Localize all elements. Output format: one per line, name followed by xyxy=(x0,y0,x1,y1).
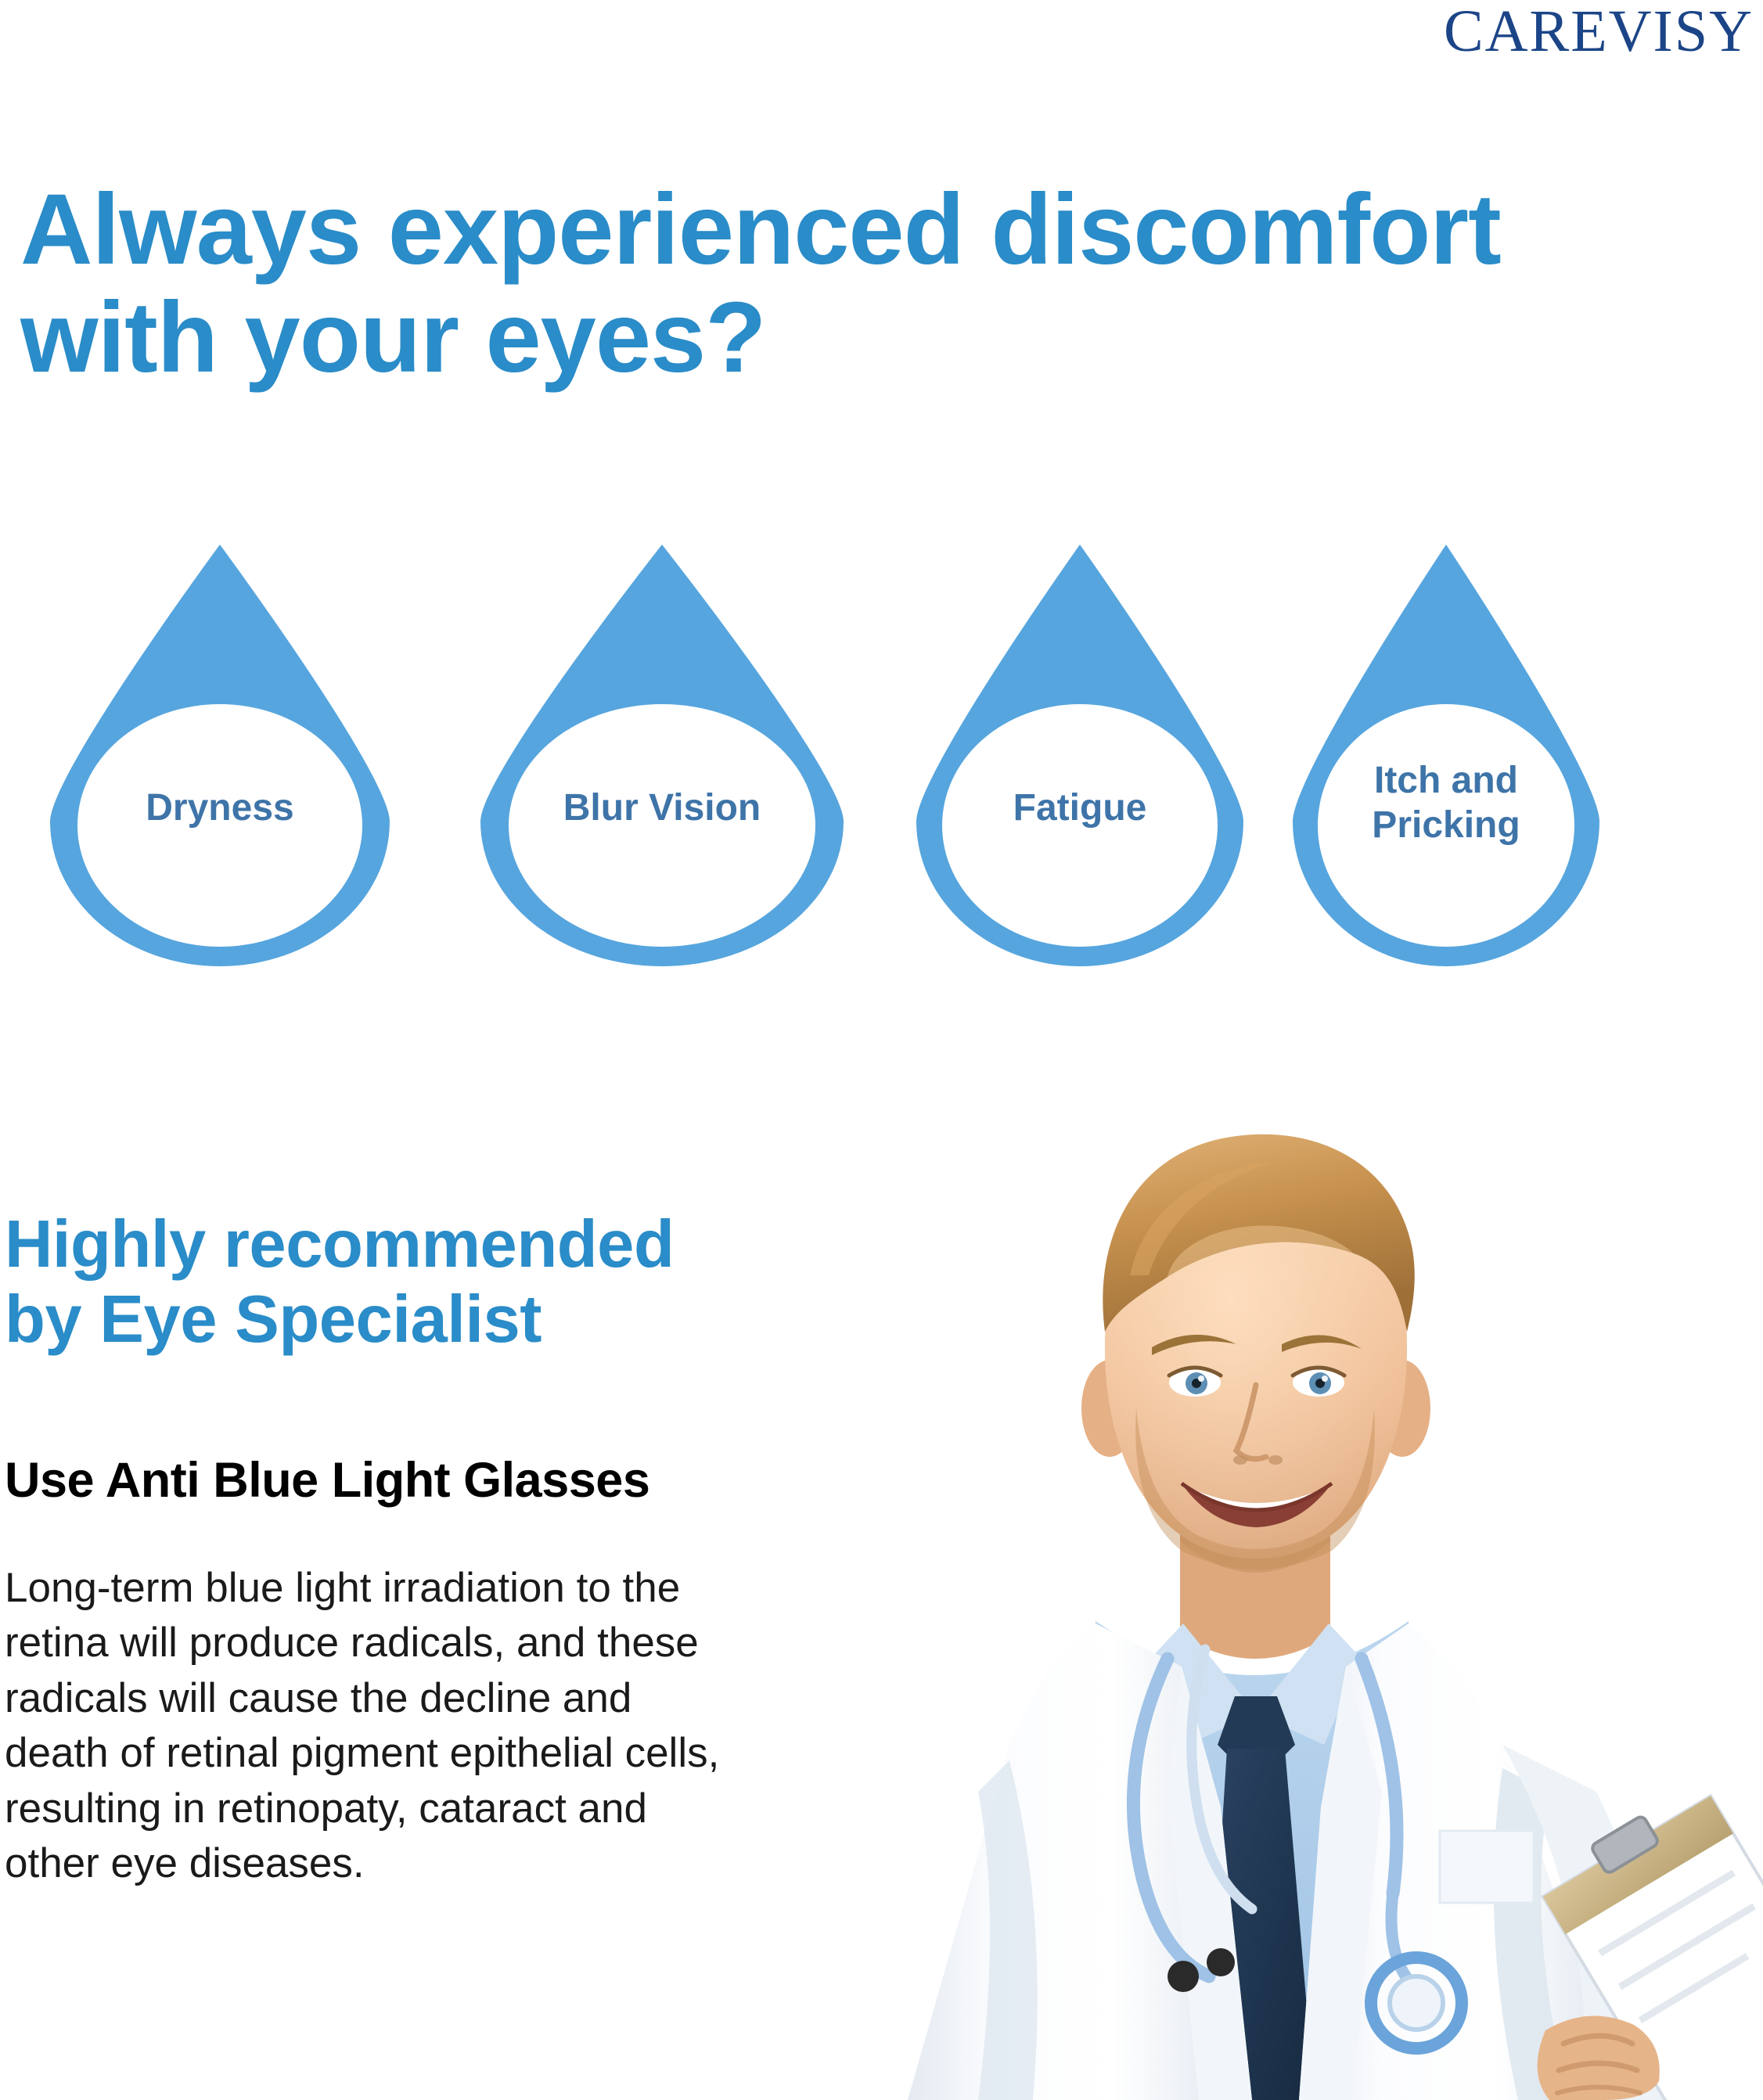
body-line-2: retina will produce radicals, and these xyxy=(5,1616,803,1670)
promo-page: CAREVISY Always experienced discomfort w… xyxy=(0,0,1763,2100)
water-drop-icon xyxy=(1282,540,1610,966)
symptom-droplet-row: Dryness Blur Vision Fatigue xyxy=(0,540,1763,970)
body-line-1: Long-term blue light irradiation to the xyxy=(5,1561,803,1616)
doctor-illustration xyxy=(814,1041,1763,2100)
recommendation-body-text: Long-term blue light irradiation to the … xyxy=(5,1561,803,1892)
symptom-droplet-itch-and-pricking[interactable]: Itch and Pricking xyxy=(1282,540,1610,966)
use-anti-blue-light-glasses-title: Use Anti Blue Light Glasses xyxy=(5,1454,834,1508)
recommendation-heading-line-1: Highly recommended xyxy=(5,1207,834,1282)
water-drop-icon xyxy=(466,540,858,966)
recommendation-heading-line-2: by Eye Specialist xyxy=(5,1282,834,1357)
symptom-droplet-fatigue[interactable]: Fatigue xyxy=(904,540,1256,966)
recommendation-heading: Highly recommended by Eye Specialist xyxy=(5,1207,834,1357)
doctor-photo xyxy=(814,1041,1763,2100)
symptom-droplet-blur-vision[interactable]: Blur Vision xyxy=(466,540,858,966)
water-drop-icon xyxy=(36,540,404,966)
water-drop-icon xyxy=(904,540,1256,966)
page-title: Always experienced discomfort with your … xyxy=(20,176,1726,392)
body-line-5: resulting in retinopaty, cataract and xyxy=(5,1782,803,1836)
headline-line-2: with your eyes? xyxy=(20,284,1726,392)
body-line-4: death of retinal pigment epithelial cell… xyxy=(5,1726,803,1781)
headline-line-1: Always experienced discomfort xyxy=(20,176,1726,284)
body-line-6: other eye diseases. xyxy=(5,1836,803,1891)
body-line-3: radicals will cause the decline and xyxy=(5,1671,803,1726)
symptom-droplet-dryness[interactable]: Dryness xyxy=(36,540,404,966)
brand-logo: CAREVISY xyxy=(1444,2,1754,61)
